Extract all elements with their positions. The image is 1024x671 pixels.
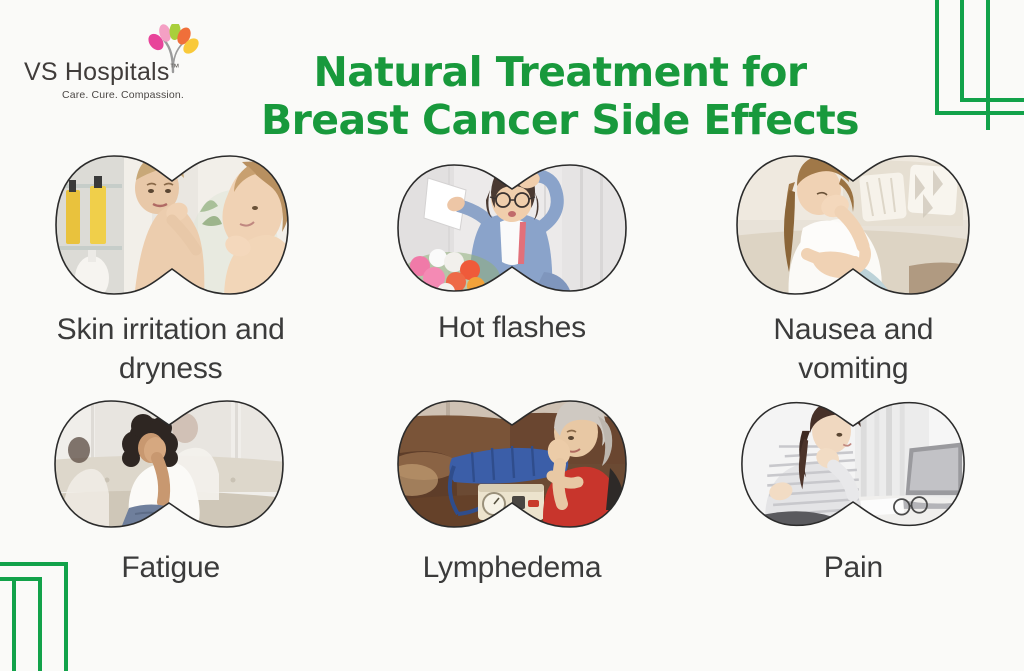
grid-row-2: Fatigue — [0, 396, 1024, 634]
card-image-lymphedema — [394, 396, 630, 532]
side-effects-grid: Skin irritation and dryness — [0, 150, 1024, 634]
page-title-line-2: Breast Cancer Side Effects — [230, 97, 890, 145]
page-header: VS Hospitals™ Care. Cure. Compassion. Na… — [0, 0, 1024, 140]
card-image-nausea-vomiting — [733, 150, 973, 300]
card-image-fatigue — [51, 396, 287, 532]
card-image-hot-flashes — [394, 160, 630, 296]
card-image-skin-irritation — [52, 150, 292, 300]
card-caption-pain: Pain — [824, 548, 883, 587]
card-caption-hot-flashes: Hot flashes — [438, 308, 586, 347]
logo[interactable]: VS Hospitals™ Care. Cure. Compassion. — [24, 22, 214, 102]
card-lymphedema[interactable]: Lymphedema — [341, 396, 682, 634]
page-title: Natural Treatment for Breast Cancer Side… — [230, 49, 890, 145]
logo-wordmark: VS Hospitals™ — [24, 58, 199, 87]
logo-name: VS Hospitals — [24, 58, 170, 86]
logo-tagline: Care. Cure. Compassion. — [62, 89, 184, 101]
card-caption-nausea-vomiting: Nausea and vomiting — [728, 310, 978, 388]
card-fatigue[interactable]: Fatigue — [0, 396, 341, 634]
logo-trademark: ™ — [170, 63, 180, 74]
card-caption-fatigue: Fatigue — [121, 548, 220, 587]
page-title-line-1: Natural Treatment for — [230, 49, 890, 97]
card-caption-skin-irritation: Skin irritation and dryness — [6, 310, 336, 388]
card-nausea-vomiting[interactable]: Nausea and vomiting — [683, 150, 1024, 396]
card-pain[interactable]: Pain — [683, 396, 1024, 634]
card-hot-flashes[interactable]: Hot flashes — [341, 150, 682, 396]
card-image-pain — [738, 396, 968, 532]
card-caption-lymphedema: Lymphedema — [372, 548, 652, 587]
grid-row-1: Skin irritation and dryness — [0, 150, 1024, 396]
card-skin-irritation[interactable]: Skin irritation and dryness — [0, 150, 341, 396]
